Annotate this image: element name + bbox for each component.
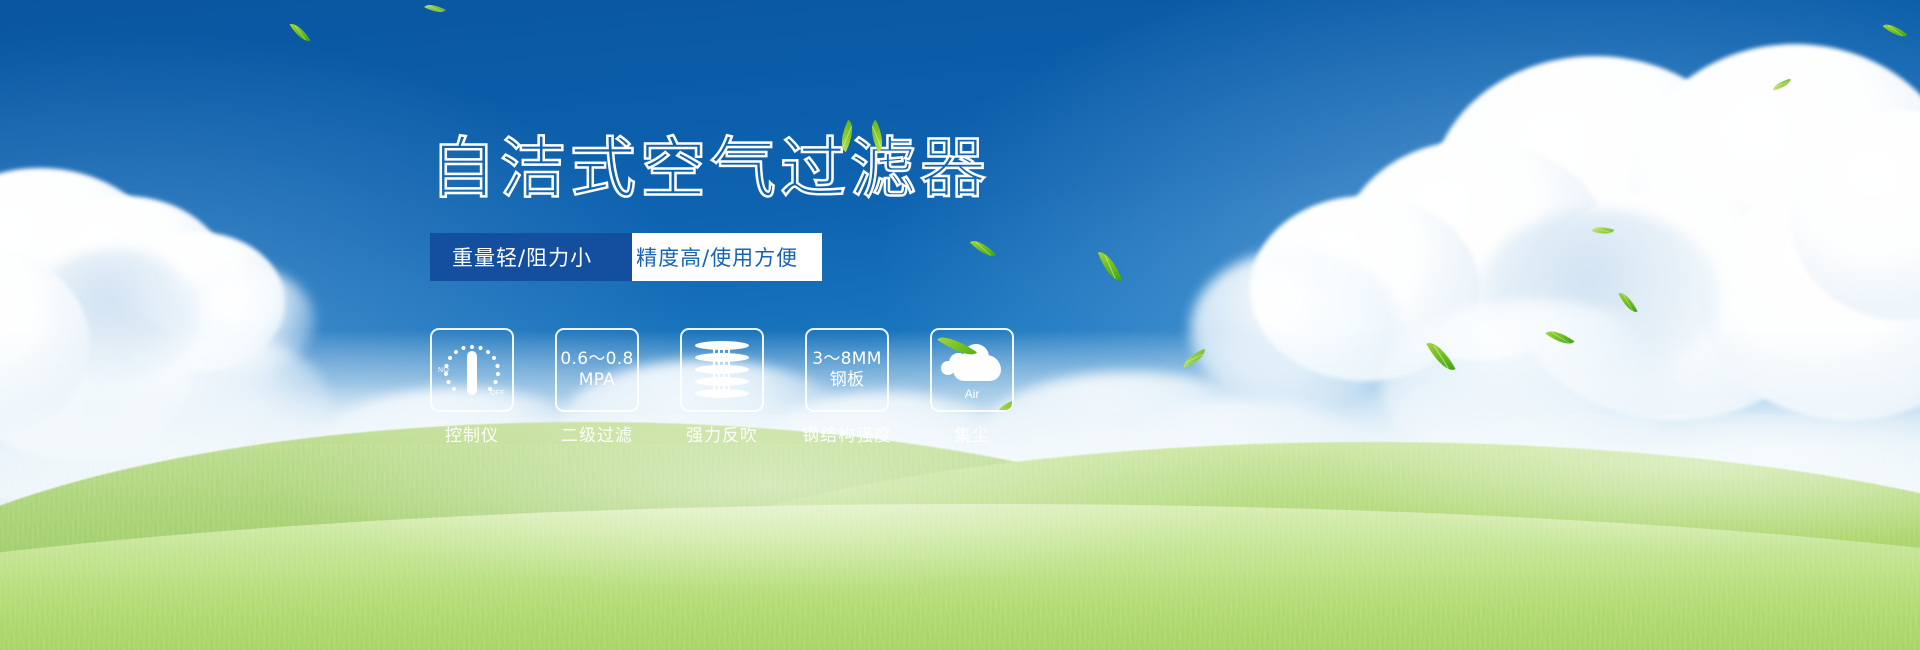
feature-box-dust-collection: Air — [930, 328, 1014, 412]
tagline-badge-primary: 重量轻/阻力小 — [430, 233, 632, 281]
steel-value-line2: 钢板 — [812, 370, 881, 391]
feature-item-dust-collection[interactable]: Air 集尘 — [930, 328, 1014, 446]
feature-item-steel-strength[interactable]: 3〜8MM 钢板 钢结构强度 — [805, 328, 889, 446]
tagline-badges: 重量轻/阻力小 精度高/使用方便 — [430, 233, 822, 281]
gauge-dial-icon: NO OFF — [438, 339, 506, 401]
feature-caption-steel-strength: 钢结构强度 — [802, 421, 892, 446]
leaf-sprout-icon — [830, 108, 900, 160]
air-cloud-icon: Air — [939, 341, 1005, 399]
tagline-secondary-text: 精度高/使用方便 — [636, 242, 798, 272]
title-text: 自洁式空气过滤器 — [430, 128, 1130, 210]
feature-item-back-blow[interactable]: 强力反吹 — [680, 328, 764, 446]
pressure-value-line2: MPA — [560, 370, 633, 391]
page-title: 自洁式空气过滤器 — [430, 128, 1130, 210]
banner-content: 自洁式空气过滤器 重量轻/阻力小 精度高/使用方便 — [0, 0, 1920, 650]
feature-box-controller: NO OFF — [430, 328, 514, 412]
product-hero-banner: 自洁式空气过滤器 重量轻/阻力小 精度高/使用方便 — [0, 0, 1920, 650]
feature-caption-dust-collection: 集尘 — [954, 421, 990, 446]
tagline-primary-text: 重量轻/阻力小 — [452, 242, 592, 272]
gauge-label-no: NO — [438, 367, 449, 374]
pressure-text-icon: 0.6〜0.8 MPA — [560, 349, 633, 391]
tagline-badge-secondary: 精度高/使用方便 — [606, 233, 822, 281]
feature-caption-controller: 控制仪 — [445, 421, 499, 446]
filter-coil-icon — [695, 341, 749, 399]
feature-caption-back-blow: 强力反吹 — [686, 421, 758, 446]
feature-item-controller[interactable]: NO OFF 控制仪 — [430, 328, 514, 446]
feature-box-back-blow — [680, 328, 764, 412]
steel-plate-text-icon: 3〜8MM 钢板 — [812, 349, 881, 391]
air-label: Air — [939, 387, 1005, 401]
feature-box-two-stage-filter: 0.6〜0.8 MPA — [555, 328, 639, 412]
gauge-label-off: OFF — [490, 390, 505, 397]
feature-box-steel-strength: 3〜8MM 钢板 — [805, 328, 889, 412]
pressure-value-line1: 0.6〜0.8 — [560, 349, 633, 370]
feature-item-two-stage-filter[interactable]: 0.6〜0.8 MPA 二级过滤 — [555, 328, 639, 446]
feature-list: NO OFF 控制仪 0.6〜0.8 MPA 二级过滤 — [430, 328, 1014, 446]
feature-caption-two-stage-filter: 二级过滤 — [561, 421, 633, 446]
steel-value-line1: 3〜8MM — [812, 349, 881, 370]
